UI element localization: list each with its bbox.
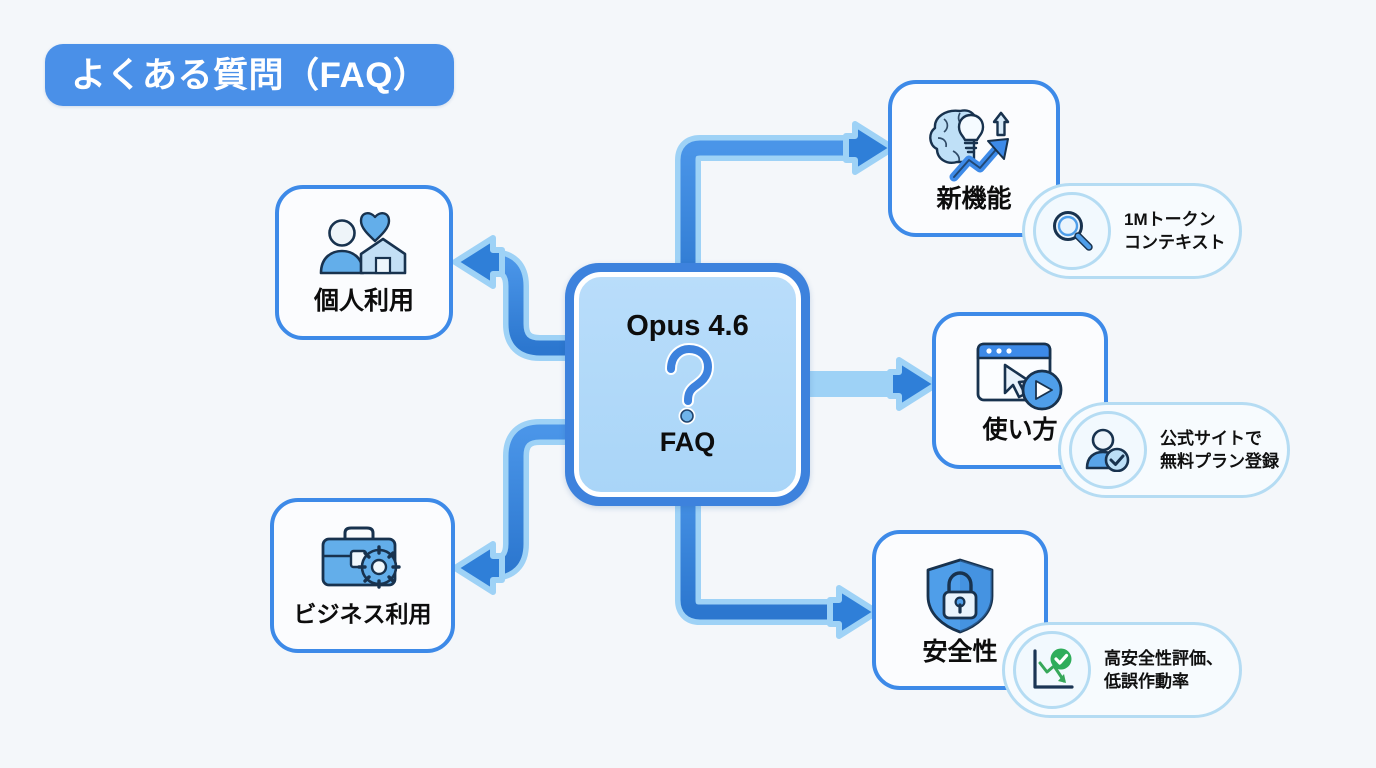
diagram-canvas: よくある質問（FAQ） [0, 0, 1376, 768]
badge-safety-line1: 高安全性評価、 [1104, 647, 1223, 670]
node-business-label: ビジネス利用 [294, 603, 432, 626]
badge-context-line1: 1Mトークン [1124, 208, 1226, 231]
node-howto-label: 使い方 [982, 418, 1057, 443]
badge-signup[interactable]: 公式サイトで 無料プラン登録 [1058, 402, 1290, 498]
magnifier-icon [1049, 208, 1095, 254]
badge-safety-icon-ring [1013, 631, 1091, 709]
badge-signup-text: 公式サイトで 無料プラン登録 [1160, 427, 1279, 474]
center-node[interactable]: Opus 4.6 FAQ [565, 263, 810, 506]
node-personal[interactable]: 個人利用 [275, 185, 453, 340]
center-node-heading: Opus 4.6 [626, 312, 749, 341]
badge-context[interactable]: 1Mトークン コンテキスト [1022, 183, 1242, 279]
node-personal-label: 個人利用 [314, 289, 414, 314]
person-heart-house-icon [317, 211, 411, 285]
badge-context-line2: コンテキスト [1124, 231, 1226, 254]
badge-signup-line2: 無料プラン登録 [1160, 450, 1279, 473]
connector-center-to-business [455, 432, 572, 592]
badge-signup-line1: 公式サイトで [1160, 427, 1279, 450]
question-mark-icon [655, 343, 721, 427]
center-node-subheading: FAQ [660, 429, 716, 456]
badge-context-text: 1Mトークン コンテキスト [1124, 208, 1226, 255]
page-title: よくある質問（FAQ） [45, 44, 454, 106]
badge-context-icon-ring [1033, 192, 1111, 270]
node-features-label: 新機能 [936, 187, 1011, 212]
node-safety-label: 安全性 [922, 640, 997, 665]
connector-center-to-personal [455, 238, 572, 348]
badge-safety-text: 高安全性評価、 低誤作動率 [1104, 647, 1223, 694]
center-node-inner: Opus 4.6 FAQ [574, 272, 801, 497]
badge-signup-icon-ring [1069, 411, 1147, 489]
page-title-text: よくある質問（FAQ） [71, 58, 428, 93]
browser-cursor-play-icon [972, 338, 1068, 414]
briefcase-gear-icon [317, 525, 409, 599]
shield-lock-icon [922, 556, 998, 636]
declining-chart-check-icon [1028, 647, 1076, 693]
connector-center-to-howto [800, 360, 937, 408]
brain-lightbulb-growth-icon [924, 105, 1024, 183]
node-business[interactable]: ビジネス利用 [270, 498, 455, 653]
user-check-icon [1084, 428, 1132, 472]
badge-safety[interactable]: 高安全性評価、 低誤作動率 [1002, 622, 1242, 718]
badge-safety-line2: 低誤作動率 [1104, 670, 1223, 693]
